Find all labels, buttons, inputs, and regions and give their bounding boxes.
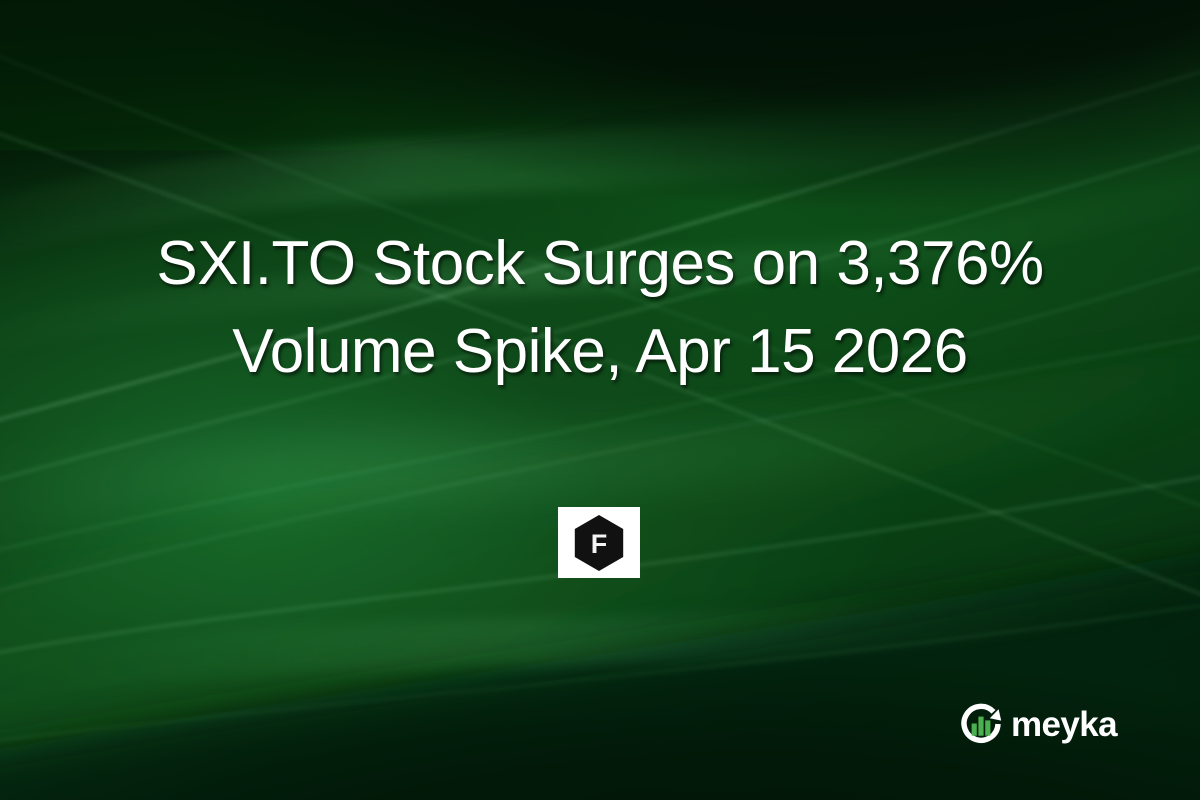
background-vignette-top <box>0 0 1200 800</box>
brand-logo[interactable]: meyka <box>957 696 1117 752</box>
badge-letter: F <box>591 529 608 559</box>
page-title: SXI.TO Stock Surges on 3,376% Volume Spi… <box>60 220 1140 396</box>
background-gradient <box>0 0 1200 800</box>
hexagon-icon: F <box>568 512 630 574</box>
source-badge: F <box>558 507 640 578</box>
social-share-card: SXI.TO Stock Surges on 3,376% Volume Spi… <box>0 0 1200 800</box>
meyka-mark-icon <box>957 700 1005 748</box>
background-vignette-bottom <box>0 0 1200 800</box>
background-wave-pattern <box>0 0 1200 800</box>
brand-name: meyka <box>1011 707 1117 742</box>
